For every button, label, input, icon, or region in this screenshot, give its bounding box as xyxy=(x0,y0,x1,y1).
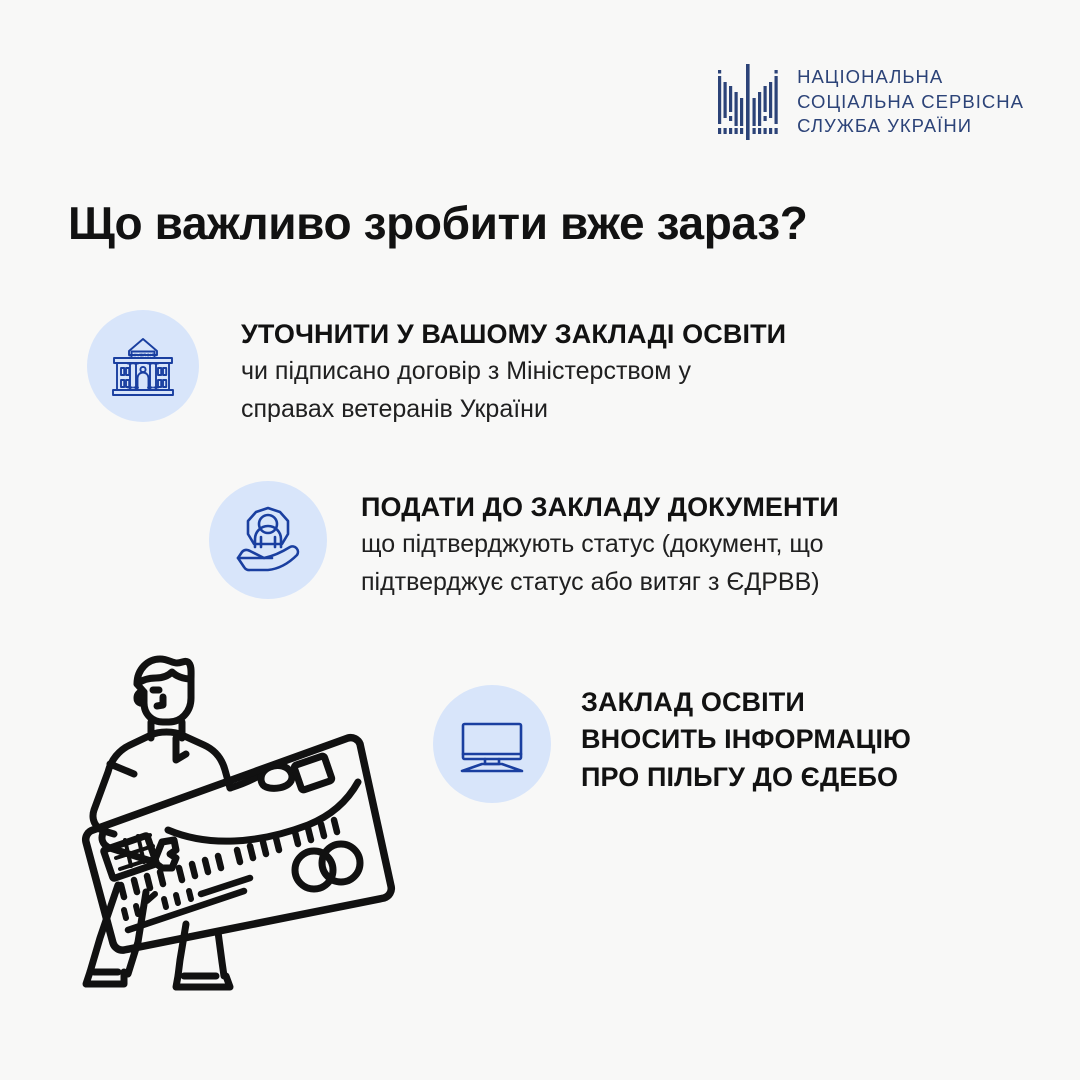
step-item-2: ПОДАТИ ДО ЗАКЛАДУ ДОКУМЕНТИ що підтвердж… xyxy=(209,481,839,599)
step-3-heading-line-2: ВНОСИТЬ ІНФОРМАЦІЮ xyxy=(581,724,911,755)
step-1-sub-line-2: справах ветеранів України xyxy=(241,393,786,426)
monitor-icon xyxy=(452,704,532,784)
step-2-heading: ПОДАТИ ДО ЗАКЛАДУ ДОКУМЕНТИ xyxy=(361,492,839,523)
step-item-1: UNIVERSITY УТОЧНИТИ У ВАШОМУ ЗАКЛАДІ ОСВ… xyxy=(87,310,786,426)
step-1-heading: УТОЧНИТИ У ВАШОМУ ЗАКЛАДІ ОСВІТИ xyxy=(241,319,786,350)
tryzub-bars-logo-icon xyxy=(715,62,781,142)
logo-line-3: СЛУЖБА УКРАЇНИ xyxy=(797,115,1024,138)
page-title: Що важливо зробити вже зараз? xyxy=(68,196,807,250)
step-2-icon-circle xyxy=(209,481,327,599)
step-2-sub-line-1: що підтверджують статус (документ, що xyxy=(361,528,839,561)
logo-wordmark: НАЦІОНАЛЬНА СОЦІАЛЬНА СЕРВІСНА СЛУЖБА УК… xyxy=(797,66,1024,139)
infographic-page: { "page": { "background_color": "#F8F8F7… xyxy=(0,0,1080,1080)
organization-logo: НАЦІОНАЛЬНА СОЦІАЛЬНА СЕРВІСНА СЛУЖБА УК… xyxy=(715,62,1024,142)
step-3-heading-line-3: ПРО ПІЛЬГУ ДО ЄДЕБО xyxy=(581,762,911,793)
person-holding-bank-card-illustration xyxy=(58,642,408,1002)
logo-line-1: НАЦІОНАЛЬНА xyxy=(797,66,1024,89)
step-1-icon-circle: UNIVERSITY xyxy=(87,310,199,422)
step-1-text: УТОЧНИТИ У ВАШОМУ ЗАКЛАДІ ОСВІТИ чи підп… xyxy=(241,319,786,426)
step-3-heading-line-1: ЗАКЛАД ОСВІТИ xyxy=(581,687,911,718)
step-3-icon-circle xyxy=(433,685,551,803)
step-item-3: ЗАКЛАД ОСВІТИ ВНОСИТЬ ІНФОРМАЦІЮ ПРО ПІЛ… xyxy=(433,685,911,803)
step-1-sub-line-1: чи підписано договір з Міністерством у xyxy=(241,355,786,388)
university-icon-label: UNIVERSITY xyxy=(128,353,158,358)
step-3-text: ЗАКЛАД ОСВІТИ ВНОСИТЬ ІНФОРМАЦІЮ ПРО ПІЛ… xyxy=(581,687,911,793)
step-2-text: ПОДАТИ ДО ЗАКЛАДУ ДОКУМЕНТИ що підтвердж… xyxy=(361,492,839,599)
university-building-icon: UNIVERSITY xyxy=(106,329,180,403)
logo-line-2: СОЦІАЛЬНА СЕРВІСНА xyxy=(797,91,1024,114)
step-2-sub-line-2: підтверджує статус або витяг з ЄДРВВ) xyxy=(361,566,839,599)
hand-holding-person-icon xyxy=(228,500,308,580)
